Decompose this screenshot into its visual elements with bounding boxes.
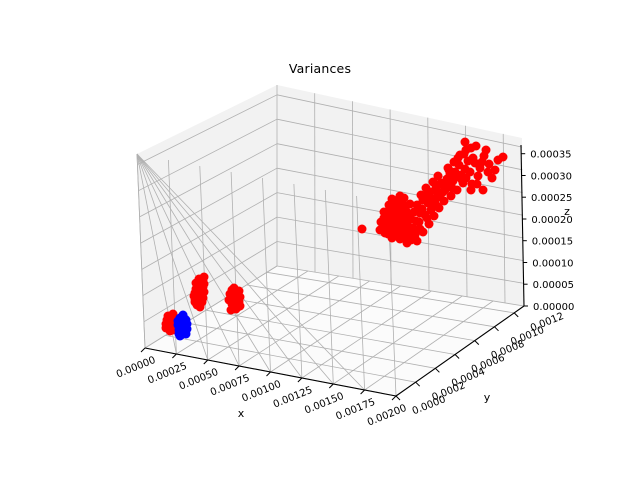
tick-mark: [267, 372, 271, 376]
tick-mark: [455, 355, 459, 359]
data-point: [413, 237, 422, 246]
data-point: [482, 146, 491, 155]
data-point: [453, 186, 462, 195]
tick-mark: [329, 384, 333, 388]
tick-label: 0.00000: [533, 302, 574, 313]
data-point: [196, 303, 205, 312]
data-point: [234, 303, 243, 312]
data-point: [403, 239, 412, 248]
data-point: [419, 228, 428, 237]
data-point: [430, 212, 439, 221]
data-point: [229, 292, 238, 301]
tick-mark: [235, 366, 239, 370]
data-point: [462, 174, 471, 183]
data-point: [376, 226, 385, 235]
tick-label: 0.00015: [532, 237, 573, 248]
tick-mark: [396, 396, 400, 400]
tick-mark: [514, 313, 518, 317]
y-axis-label: y: [484, 391, 491, 404]
data-point: [485, 160, 494, 169]
data-point: [425, 220, 434, 229]
tick-mark: [475, 341, 479, 345]
data-point: [192, 293, 201, 302]
data-point: [474, 172, 483, 181]
data-point: [380, 208, 389, 217]
data-point: [479, 186, 488, 195]
data-point: [377, 218, 386, 227]
tick-mark: [392, 396, 396, 400]
data-point: [450, 158, 459, 167]
data-point: [388, 234, 397, 243]
data-point: [456, 151, 465, 160]
data-point: [469, 154, 478, 163]
data-point: [166, 316, 175, 325]
data-point: [488, 174, 497, 183]
data-point: [358, 225, 367, 234]
tick-mark: [361, 390, 365, 394]
data-point: [183, 325, 192, 334]
data-point: [179, 311, 188, 320]
tick-mark: [204, 360, 208, 364]
data-point: [230, 284, 239, 293]
tick-label: 0.00030: [531, 172, 572, 183]
data-point: [434, 172, 443, 181]
tick-mark: [298, 378, 302, 382]
z-axis-label: z: [564, 205, 570, 218]
tick-mark: [172, 354, 176, 358]
tick-mark: [416, 382, 420, 386]
tick-mark: [495, 327, 499, 331]
data-point: [499, 153, 508, 162]
matplotlib-figure: Variances 0.000000.000250.000500.000750.…: [0, 0, 640, 480]
scatter-plot-3d: 0.000000.000250.000500.000750.001000.001…: [0, 0, 640, 480]
tick-label: 0.0012: [529, 311, 566, 334]
data-point: [175, 330, 184, 339]
tick-label: 0.00035: [530, 150, 571, 161]
tick-label: 0.00010: [532, 259, 573, 270]
x-axis-label: x: [238, 407, 245, 420]
data-point: [467, 144, 476, 153]
tick-label: 0.00025: [531, 193, 572, 204]
tick-label: 0.00005: [533, 280, 574, 291]
tick-mark: [141, 348, 145, 352]
data-point: [422, 184, 431, 193]
tick-mark: [435, 368, 439, 372]
